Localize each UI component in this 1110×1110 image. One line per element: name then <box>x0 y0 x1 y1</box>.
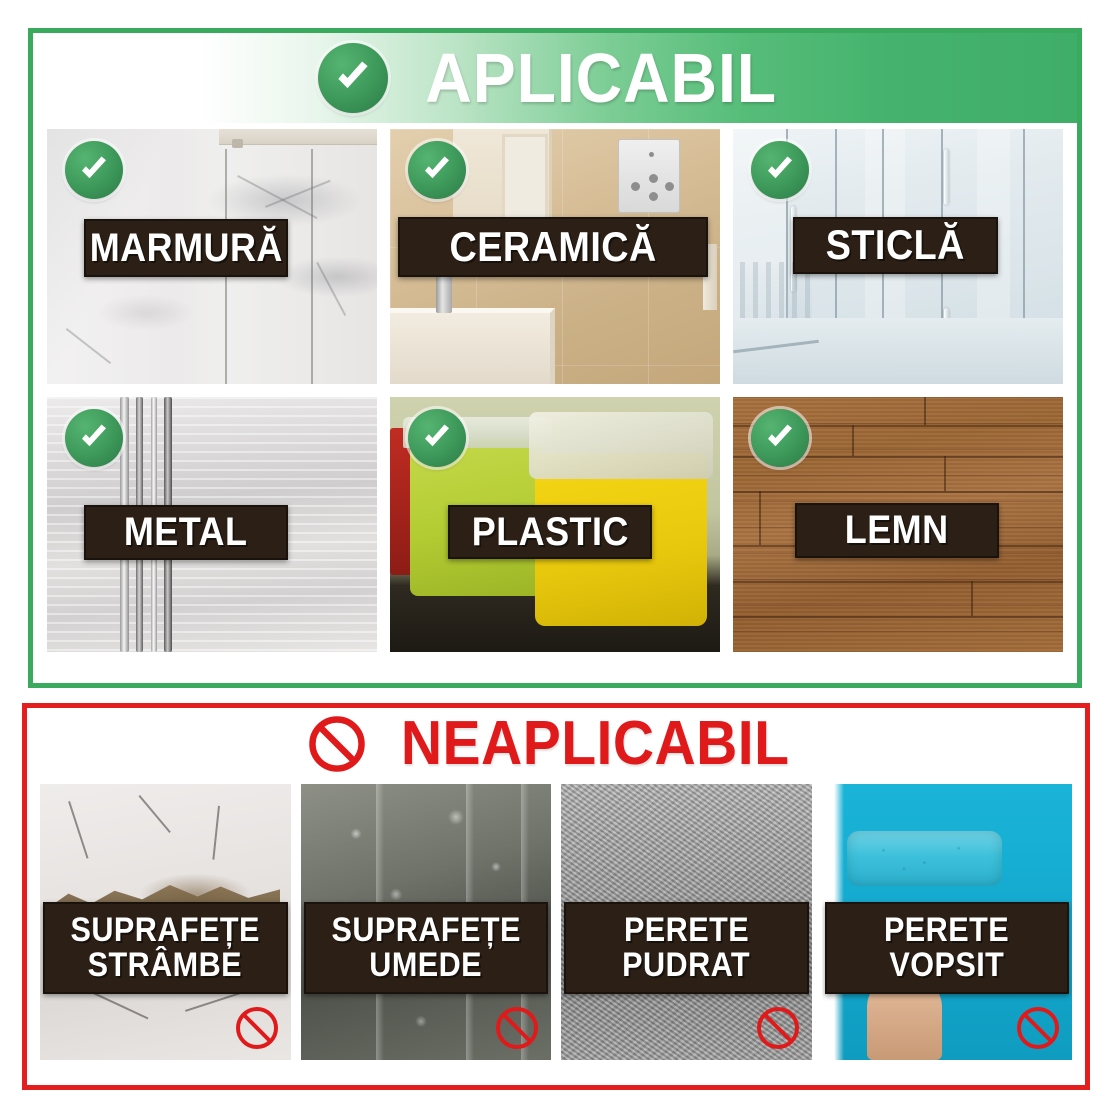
check-circle-icon <box>408 409 466 467</box>
plastic-lid-yellow <box>529 412 714 478</box>
tile-label-lemn: LEMN <box>795 503 999 558</box>
marble-vein <box>237 175 317 219</box>
applicable-grid: MARMURĂ <box>47 129 1063 652</box>
applicable-panel: APLICABIL <box>28 28 1082 688</box>
paint-roller-icon <box>847 831 1002 886</box>
tile-suprafete-umede[interactable]: SUPRAFEȚE UMEDE <box>301 784 552 1060</box>
wood-plank-joint <box>852 425 854 456</box>
wood-plank-joint <box>971 581 973 617</box>
tile-label-line1: PERETE <box>624 913 749 948</box>
tile-label-line2: PUDRAT <box>622 948 750 983</box>
prohibition-icon <box>1014 1004 1062 1052</box>
prohibition-icon <box>754 1004 802 1052</box>
tile-label-marmura: MARMURĂ <box>84 219 288 277</box>
check-circle-icon <box>751 141 809 199</box>
tile-label-line1: PERETE <box>884 913 1009 948</box>
marble-vein <box>66 328 111 364</box>
tile-label-line2: UMEDE <box>369 948 482 983</box>
prohibition-icon <box>493 1004 541 1052</box>
tile-label-text: LEMN <box>845 510 949 551</box>
tile-ceramica[interactable]: CERAMICĂ <box>390 129 720 384</box>
wall-switch-icon <box>618 139 680 213</box>
not-applicable-header: NEAPLICABIL <box>27 708 1085 780</box>
applicable-title: APLICABIL <box>425 43 777 113</box>
check-circle-icon <box>751 409 809 467</box>
tile-label-line1: SUPRAFEȚE <box>331 913 520 948</box>
tile-label-plastic: PLASTIC <box>448 505 652 559</box>
not-applicable-grid: SUPRAFEȚE STRÂMBE SUPRA <box>40 784 1072 1060</box>
marble-vein <box>265 179 331 207</box>
crack-line <box>68 801 88 859</box>
wood-plank-joint <box>733 581 1063 583</box>
prohibition-icon <box>306 713 368 775</box>
tile-sticla[interactable]: STICLĂ <box>733 129 1063 384</box>
tile-label-text: STICLĂ <box>826 224 965 267</box>
tile-suprafete-strambe[interactable]: SUPRAFEȚE STRÂMBE <box>40 784 291 1060</box>
wood-plank-joint <box>759 491 761 545</box>
tile-label-line2: STRÂMBE <box>88 948 242 983</box>
check-circle-icon <box>65 141 123 199</box>
crack-line <box>139 795 171 833</box>
prohibition-icon <box>233 1004 281 1052</box>
tile-label-text: MARMURĂ <box>89 228 282 269</box>
tile-plastic[interactable]: PLASTIC <box>390 397 720 652</box>
tile-label-text: METAL <box>124 512 248 553</box>
tile-lemn[interactable]: LEMN <box>733 397 1063 652</box>
wood-plank-joint <box>944 456 946 492</box>
applicable-header: APLICABIL <box>33 33 1077 123</box>
check-circle-icon <box>65 409 123 467</box>
tile-label-text: CERAMICĂ <box>449 226 656 269</box>
door-handle-icon <box>944 149 949 205</box>
ceramic-vanity <box>390 308 555 385</box>
marble-vein <box>316 262 346 316</box>
marble-knob <box>232 139 243 148</box>
infographic-root: APLICABIL <box>0 0 1110 1110</box>
tile-label-line1: SUPRAFEȚE <box>71 913 260 948</box>
ceramic-door <box>502 134 548 221</box>
not-applicable-panel: NEAPLICABIL SUPRAFEȚE STRÂMBE <box>22 703 1090 1090</box>
check-circle-icon <box>408 141 466 199</box>
check-circle-icon <box>318 43 388 113</box>
tile-label-suprafete-umede: SUPRAFEȚE UMEDE <box>304 902 549 994</box>
tile-perete-vopsit[interactable]: PERETE VOPSIT <box>822 784 1073 1060</box>
crack-line <box>213 806 221 860</box>
tile-perete-pudrat[interactable]: PERETE PUDRAT <box>561 784 812 1060</box>
glass-floor <box>733 318 1063 384</box>
wood-plank-joint <box>924 397 926 425</box>
tile-label-perete-vopsit: PERETE VOPSIT <box>825 902 1070 994</box>
wood-plank-joint <box>733 616 1063 618</box>
tile-label-text: PLASTIC <box>471 512 628 553</box>
tile-label-perete-pudrat: PERETE PUDRAT <box>564 902 809 994</box>
tile-metal[interactable]: METAL <box>47 397 377 652</box>
marble-seam <box>311 149 313 384</box>
tile-label-sticla: STICLĂ <box>793 217 998 274</box>
tile-marmura[interactable]: MARMURĂ <box>47 129 377 384</box>
not-applicable-title: NEAPLICABIL <box>401 713 789 775</box>
tile-label-ceramica: CERAMICĂ <box>398 217 708 277</box>
wood-plank-joint <box>733 491 1063 493</box>
tile-label-metal: METAL <box>84 505 288 560</box>
tile-label-suprafete-strambe: SUPRAFEȚE STRÂMBE <box>43 902 288 994</box>
tile-label-line2: VOPSIT <box>889 948 1004 983</box>
